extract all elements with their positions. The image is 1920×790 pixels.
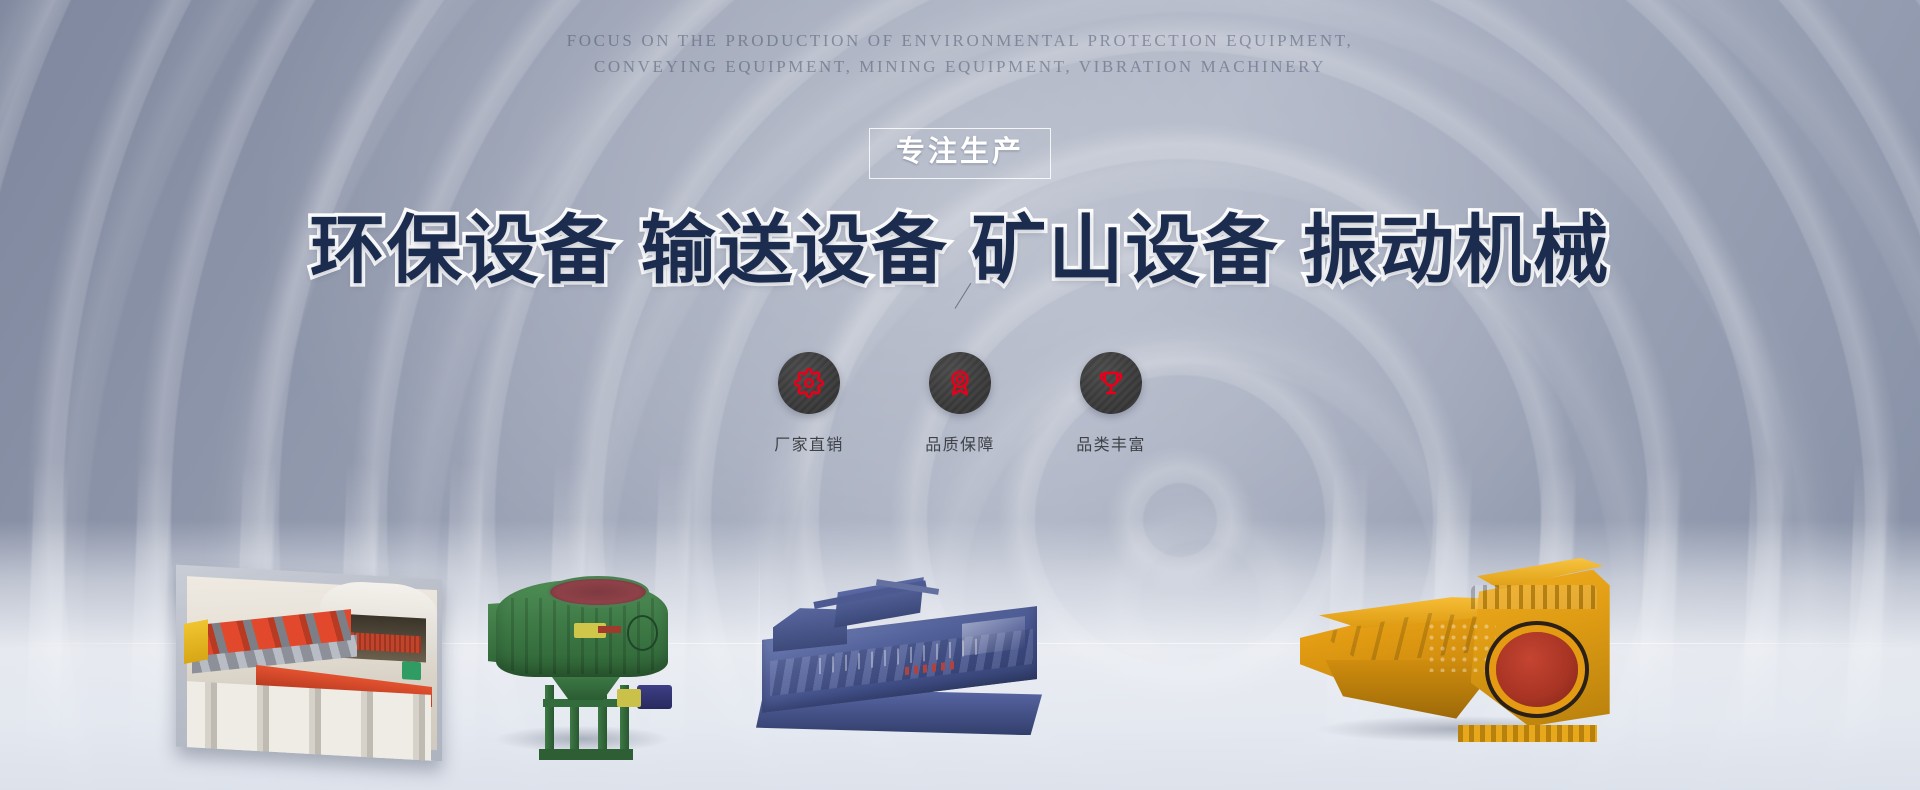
hero-banner: FOCUS ON THE PRODUCTION OF ENVIRONMENTAL…: [0, 0, 1920, 790]
gear-icon: [778, 352, 840, 414]
english-tagline-line-2: CONVEYING EQUIPMENT, MINING EQUIPMENT, V…: [0, 54, 1920, 80]
focus-badge: 专注生产: [869, 128, 1051, 179]
feature-item-factory-direct[interactable]: 厂家直销: [764, 352, 854, 455]
feature-item-rich-categories[interactable]: 品类丰富: [1066, 352, 1156, 455]
medal-icon: [929, 352, 991, 414]
product-vibrating-feeder: [1300, 554, 1616, 750]
page-title: 环保设备 输送设备 矿山设备 振动机械: [0, 208, 1920, 292]
trophy-icon: [1080, 352, 1142, 414]
diagonal-tick-mark: [955, 308, 981, 334]
feature-item-quality-guarantee[interactable]: 品质保障: [915, 352, 1005, 455]
product-screening-machine: [176, 572, 442, 754]
product-showcase: [0, 450, 1920, 790]
feature-list: 厂家直销 品质保障: [764, 352, 1156, 455]
product-image: [176, 565, 442, 762]
english-tagline: FOCUS ON THE PRODUCTION OF ENVIRONMENTAL…: [0, 28, 1920, 80]
product-vibrating-screen: [756, 582, 1042, 740]
product-disc-feeder: [484, 572, 680, 760]
english-tagline-line-1: FOCUS ON THE PRODUCTION OF ENVIRONMENTAL…: [0, 28, 1920, 54]
